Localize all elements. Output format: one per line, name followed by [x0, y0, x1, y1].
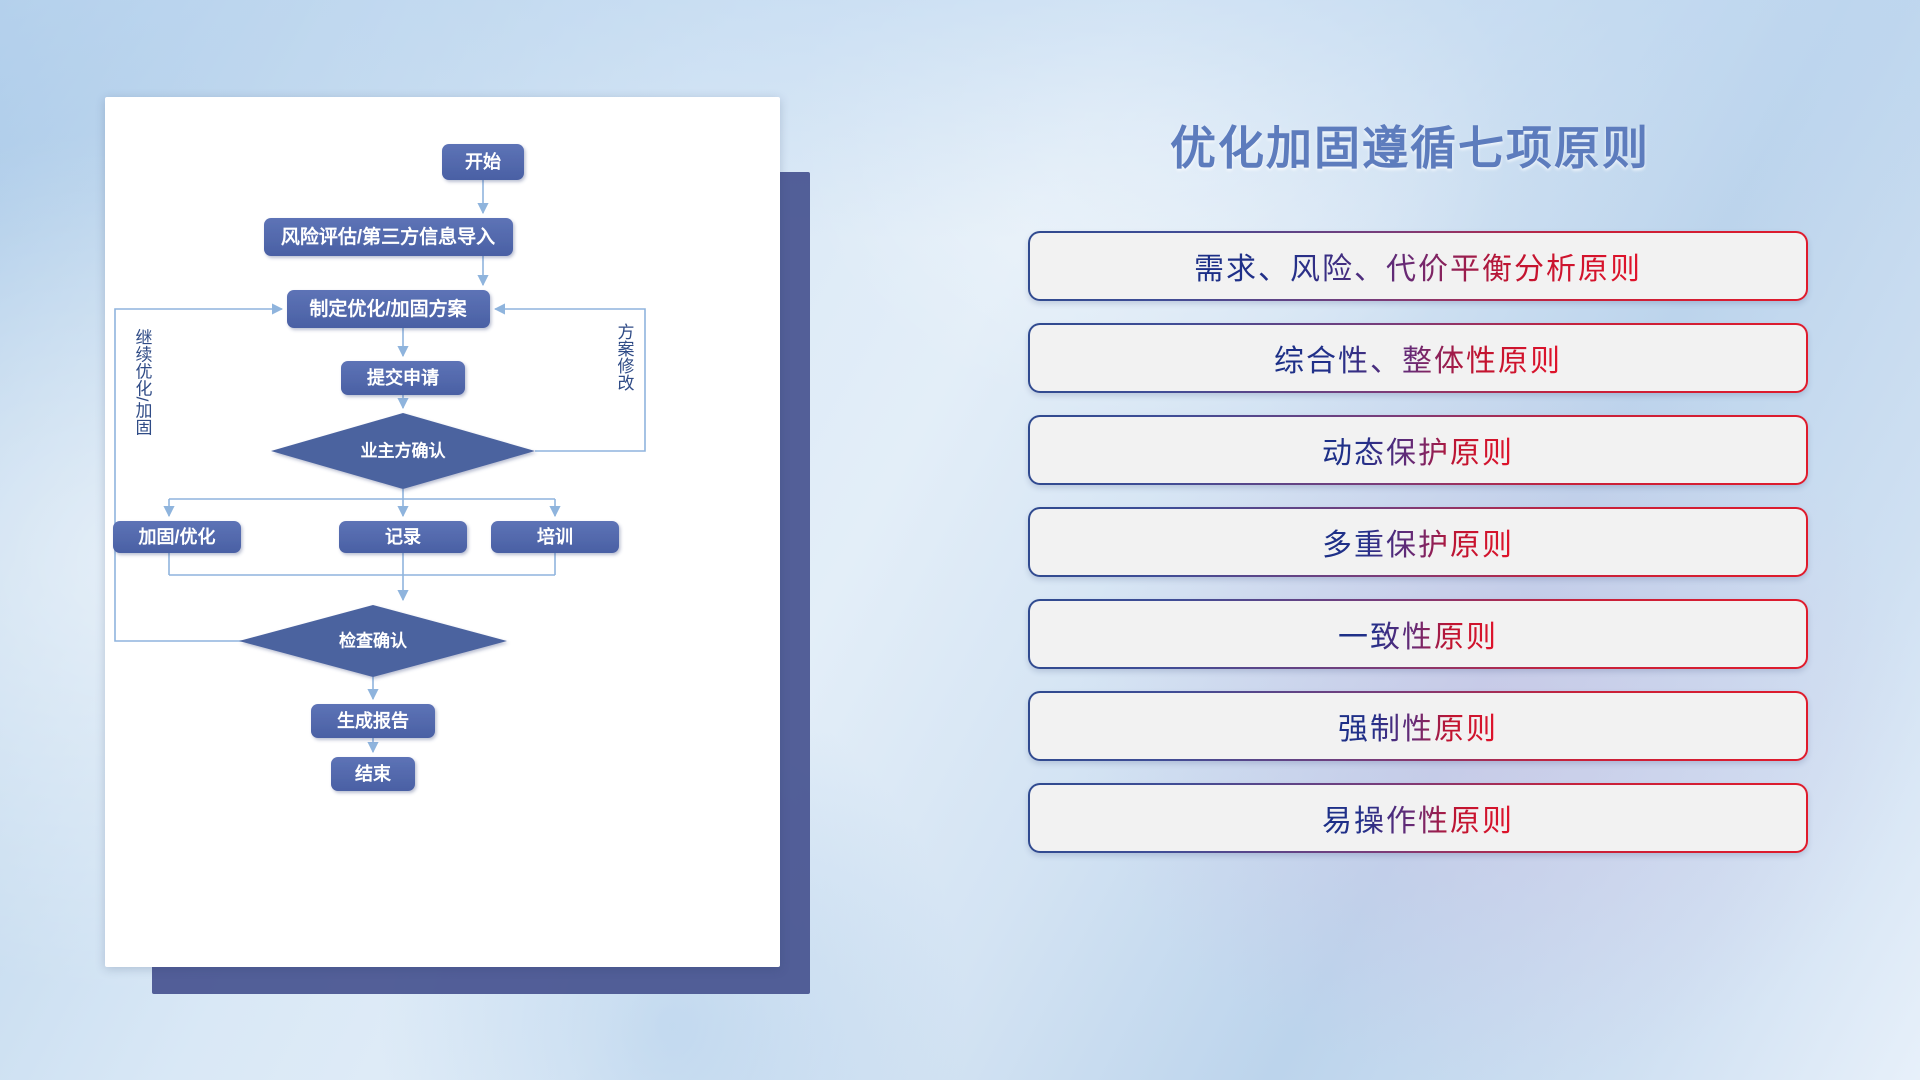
principle-card-5[interactable]: 一致性原则: [1028, 599, 1808, 669]
principles-list: 需求、风险、代价平衡分析原则 综合性、整体性原则 动态保护原则 多重保护原则 一…: [1028, 231, 1808, 875]
flow-node-training-label: 培训: [537, 526, 573, 547]
flow-node-risk-assessment[interactable]: 风险评估/第三方信息导入: [264, 218, 513, 256]
flow-edge-label-right-loop-text: 方案修改: [615, 323, 635, 391]
flow-node-training[interactable]: 培训: [491, 521, 619, 553]
flow-node-record[interactable]: 记录: [339, 521, 467, 553]
principle-card-3[interactable]: 动态保护原则: [1028, 415, 1808, 485]
flow-node-check-confirm-label: 检查确认: [339, 630, 408, 650]
principle-card-4-label: 多重保护原则: [1322, 520, 1514, 564]
flow-node-submit-application[interactable]: 提交申请: [341, 361, 465, 395]
principle-card-2-label: 综合性、整体性原则: [1274, 336, 1562, 380]
flow-edge-label-left-loop: 继续优化/加固: [133, 329, 153, 436]
principle-card-1-inner: 需求、风险、代价平衡分析原则: [1030, 233, 1806, 299]
principle-card-5-label: 一致性原则: [1338, 612, 1498, 656]
principles-panel: 优化加固遵循七项原则 需求、风险、代价平衡分析原则 综合性、整体性原则 动态保护…: [1000, 70, 1820, 1030]
flow-node-end-label: 结束: [355, 763, 392, 784]
principle-card-4[interactable]: 多重保护原则: [1028, 507, 1808, 577]
flow-node-end[interactable]: 结束: [331, 757, 415, 791]
principle-card-7-inner: 易操作性原则: [1030, 785, 1806, 851]
principle-card-5-inner: 一致性原则: [1030, 601, 1806, 667]
flowchart-diagram: 开始 风险评估/第三方信息导入 制定优化/加固方案 提交申请 业主方确认 加固/…: [105, 97, 780, 967]
principle-card-1[interactable]: 需求、风险、代价平衡分析原则: [1028, 231, 1808, 301]
flow-node-owner-confirm-label: 业主方确认: [361, 440, 447, 460]
flow-node-make-plan-label: 制定优化/加固方案: [309, 297, 467, 320]
flow-node-reinforce-optimize-label: 加固/优化: [137, 526, 215, 547]
page-title: 优化加固遵循七项原则: [1000, 112, 1820, 178]
flow-node-reinforce-optimize[interactable]: 加固/优化: [113, 521, 241, 553]
principle-card-7-label: 易操作性原则: [1322, 796, 1514, 840]
flow-node-generate-report-label: 生成报告: [337, 710, 409, 731]
principle-card-2[interactable]: 综合性、整体性原则: [1028, 323, 1808, 393]
flow-node-owner-confirm[interactable]: 业主方确认: [271, 413, 535, 489]
flow-node-start-label: 开始: [465, 151, 501, 172]
principle-card-6-label: 强制性原则: [1338, 704, 1498, 748]
principle-card-4-inner: 多重保护原则: [1030, 509, 1806, 575]
flow-node-submit-application-label: 提交申请: [367, 367, 439, 388]
flow-edge-label-left-loop-text: 继续优化/加固: [133, 329, 153, 436]
flow-edge-label-right-loop: 方案修改: [615, 323, 635, 391]
principle-card-6-inner: 强制性原则: [1030, 693, 1806, 759]
flow-node-make-plan[interactable]: 制定优化/加固方案: [287, 290, 490, 328]
principle-card-2-inner: 综合性、整体性原则: [1030, 325, 1806, 391]
principle-card-6[interactable]: 强制性原则: [1028, 691, 1808, 761]
principle-card-1-label: 需求、风险、代价平衡分析原则: [1194, 244, 1642, 288]
principle-card-3-label: 动态保护原则: [1322, 428, 1514, 472]
flow-node-start[interactable]: 开始: [442, 144, 524, 180]
flow-node-check-confirm[interactable]: 检查确认: [239, 605, 507, 677]
principle-card-7[interactable]: 易操作性原则: [1028, 783, 1808, 853]
flow-node-record-label: 记录: [385, 527, 421, 547]
flow-node-generate-report[interactable]: 生成报告: [311, 704, 435, 738]
flow-node-risk-assessment-label: 风险评估/第三方信息导入: [281, 225, 495, 248]
principle-card-3-inner: 动态保护原则: [1030, 417, 1806, 483]
